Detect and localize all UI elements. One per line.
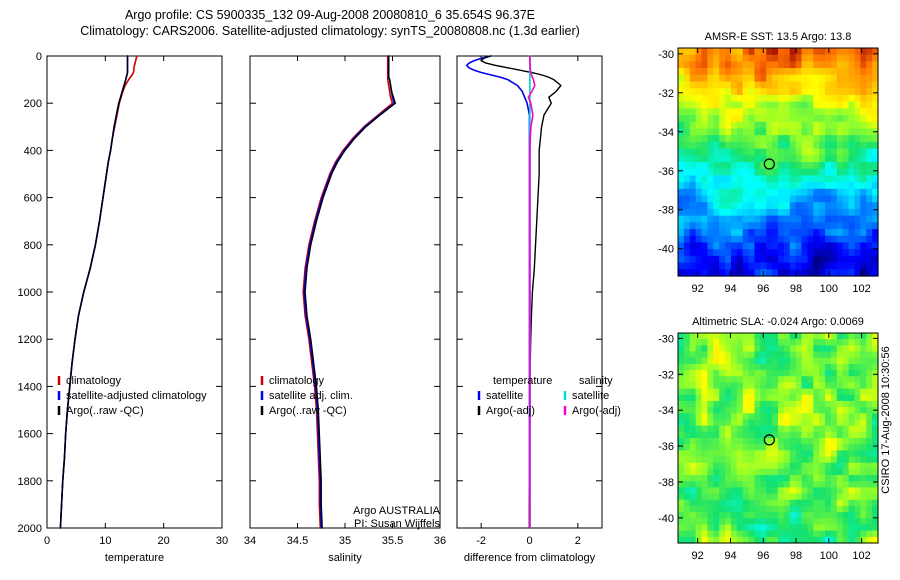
heatmap-cell [754, 142, 760, 149]
y-tick-label: 800 [24, 240, 42, 252]
heatmap-cell [737, 155, 743, 162]
heatmap-cell [754, 135, 760, 142]
heatmap-cell [702, 382, 708, 389]
heatmap-cell [784, 531, 790, 538]
heatmap-cell [743, 249, 749, 256]
heatmap-cell [807, 389, 813, 396]
heatmap-cell [778, 48, 784, 55]
heatmap-cell [719, 389, 725, 396]
heatmap-cell [737, 236, 743, 243]
heatmap-cell [860, 469, 866, 476]
panel-difference-profile: -202difference from climatologytemperatu… [457, 56, 621, 564]
heatmap-cell [866, 263, 872, 270]
heatmap-cell [690, 395, 696, 402]
heatmap-cell [725, 128, 731, 135]
heatmap-cell [754, 413, 760, 420]
heatmap-cell [849, 189, 855, 196]
heatmap-cell [778, 55, 784, 62]
heatmap-cell [725, 115, 731, 122]
heatmap-cell [766, 128, 772, 135]
heatmap-cell [690, 518, 696, 525]
heatmap-cell [707, 475, 713, 482]
heatmap-cell [837, 469, 843, 476]
heatmap-cell [784, 413, 790, 420]
heatmap-cell [825, 68, 831, 75]
heatmap-cell [778, 481, 784, 488]
heatmap-cell [813, 162, 819, 169]
heatmap-cell [784, 216, 790, 223]
heatmap-cell [843, 236, 849, 243]
heatmap-cell [849, 524, 855, 531]
heatmap-cell [778, 202, 784, 209]
heatmap-cell [843, 419, 849, 426]
heatmap-cell [749, 457, 755, 464]
heatmap-cell [760, 506, 766, 513]
heatmap-cell [707, 209, 713, 216]
heatmap-cell [778, 242, 784, 249]
heatmap-cell [737, 432, 743, 439]
heatmap-cell [725, 162, 731, 169]
heatmap-cell [813, 115, 819, 122]
heatmap-cell [819, 364, 825, 371]
heatmap-cell [678, 364, 684, 371]
heatmap-cell [819, 469, 825, 476]
heatmap-cell [784, 242, 790, 249]
heatmap-cell [702, 339, 708, 346]
heatmap-cell [866, 115, 872, 122]
heatmap-cell [731, 370, 737, 377]
heatmap-cell [796, 500, 802, 507]
heatmap-cell [678, 382, 684, 389]
heatmap-cell [807, 263, 813, 270]
heatmap-cell [690, 401, 696, 408]
heatmap-cell [825, 444, 831, 451]
series-line [60, 56, 127, 528]
heatmap-cell [702, 524, 708, 531]
heatmap-cell [690, 122, 696, 129]
heatmap-cell [737, 209, 743, 216]
heatmap-cell [749, 432, 755, 439]
heatmap-cell [766, 236, 772, 243]
heatmap-cell [678, 345, 684, 352]
heatmap-cell [819, 500, 825, 507]
heatmap-cell [749, 162, 755, 169]
heatmap-cell [737, 189, 743, 196]
heatmap-cell [825, 182, 831, 189]
heatmap-cell [749, 182, 755, 189]
heatmap-cell [760, 524, 766, 531]
heatmap-cell [860, 189, 866, 196]
heatmap-cell [772, 142, 778, 149]
heatmap-cell [696, 358, 702, 365]
heatmap-cell [731, 175, 737, 182]
heatmap-cell [684, 370, 690, 377]
heatmap-cell [843, 182, 849, 189]
heatmap-cell [731, 95, 737, 102]
heatmap-cell [837, 229, 843, 236]
heatmap-cell [825, 142, 831, 149]
heatmap-cell [690, 487, 696, 494]
heatmap-cell [743, 122, 749, 129]
heatmap-cell [731, 229, 737, 236]
heatmap-cell [725, 256, 731, 263]
heatmap-cell [807, 376, 813, 383]
heatmap-cell [749, 401, 755, 408]
heatmap-cell [813, 48, 819, 55]
heatmap-cell [754, 407, 760, 414]
heatmap-cell [702, 88, 708, 95]
heatmap-cell [713, 370, 719, 377]
heatmap-cell [719, 242, 725, 249]
heatmap-cell [772, 135, 778, 142]
heatmap-cell [796, 413, 802, 420]
heatmap-cell [843, 162, 849, 169]
heatmap-cell [790, 68, 796, 75]
heatmap-cell [825, 189, 831, 196]
heatmap-cell [843, 135, 849, 142]
heatmap-cell [684, 115, 690, 122]
heatmap-cell [743, 333, 749, 340]
heatmap-cell [813, 469, 819, 476]
heatmap-cell [760, 182, 766, 189]
heatmap-cell [837, 432, 843, 439]
heatmap-cell [778, 469, 784, 476]
heatmap-cell [719, 216, 725, 223]
heatmap-cell [819, 128, 825, 135]
heatmap-cell [825, 48, 831, 55]
heatmap-cell [819, 395, 825, 402]
y-tick-label: -40 [658, 244, 674, 256]
heatmap-cell [837, 389, 843, 396]
heatmap-cell [690, 55, 696, 62]
heatmap-cell [731, 333, 737, 340]
heatmap-cell [737, 444, 743, 451]
heatmap-cell [696, 209, 702, 216]
heatmap-cell [719, 512, 725, 519]
heatmap-cell [743, 352, 749, 359]
heatmap-cell [766, 202, 772, 209]
heatmap-cell [713, 122, 719, 129]
legend-label: Argo(-adj) [572, 405, 621, 417]
heatmap-cell [766, 135, 772, 142]
heatmap-cell [819, 229, 825, 236]
heatmap-cell [831, 438, 837, 445]
heatmap-cell [707, 162, 713, 169]
heatmap-cell [831, 216, 837, 223]
heatmap-cell [749, 389, 755, 396]
heatmap-cell [854, 236, 860, 243]
heatmap-cell [760, 115, 766, 122]
heatmap-cell [690, 512, 696, 519]
heatmap-cell [696, 155, 702, 162]
heatmap-cell [837, 438, 843, 445]
heatmap-cell [860, 108, 866, 115]
heatmap-cell [707, 438, 713, 445]
heatmap-cell [719, 444, 725, 451]
heatmap-cell [796, 108, 802, 115]
heatmap-cell [749, 189, 755, 196]
heatmap-cell [837, 345, 843, 352]
heatmap-cell [854, 401, 860, 408]
heatmap-cell [772, 457, 778, 464]
heatmap-cell [713, 382, 719, 389]
heatmap-cell [772, 196, 778, 203]
heatmap-cell [684, 512, 690, 519]
heatmap-cell [684, 395, 690, 402]
heatmap-cell [731, 413, 737, 420]
heatmap-cell [690, 481, 696, 488]
heatmap-cell [860, 229, 866, 236]
heatmap-cell [737, 82, 743, 89]
heatmap-cell [790, 438, 796, 445]
heatmap-cell [796, 407, 802, 414]
heatmap-cell [707, 142, 713, 149]
heatmap-cell [754, 345, 760, 352]
heatmap-cell [725, 376, 731, 383]
heatmap-cell [684, 352, 690, 359]
heatmap-cell [849, 162, 855, 169]
heatmap-cell [866, 457, 872, 464]
heatmap-cell [825, 169, 831, 176]
heatmap-cell [849, 481, 855, 488]
heatmap-cell [743, 426, 749, 433]
heatmap-cell [772, 95, 778, 102]
heatmap-cell [837, 339, 843, 346]
heatmap-cell [684, 358, 690, 365]
heatmap-cell [737, 128, 743, 135]
heatmap-cell [837, 88, 843, 95]
heatmap-cell [790, 370, 796, 377]
heatmap-cell [702, 202, 708, 209]
heatmap-cell [772, 389, 778, 396]
heatmap-cell [854, 149, 860, 156]
heatmap-cell [678, 175, 684, 182]
heatmap-cell [843, 229, 849, 236]
heatmap-cell [843, 216, 849, 223]
heatmap-cell [837, 61, 843, 68]
heatmap-cell [866, 401, 872, 408]
heatmap-cell [719, 236, 725, 243]
heatmap-cell [743, 236, 749, 243]
heatmap-cell [696, 122, 702, 129]
heatmap-cell [843, 382, 849, 389]
heatmap-cell [849, 518, 855, 525]
heatmap-cell [854, 339, 860, 346]
heatmap-cell [743, 88, 749, 95]
heatmap-cell [690, 450, 696, 457]
heatmap-cell [860, 444, 866, 451]
heatmap-cell [802, 487, 808, 494]
heatmap-cell [813, 438, 819, 445]
heatmap-cell [849, 263, 855, 270]
heatmap-cell [696, 339, 702, 346]
heatmap-cell [743, 169, 749, 176]
heatmap-cell [849, 82, 855, 89]
heatmap-cell [743, 469, 749, 476]
heatmap-cell [819, 487, 825, 494]
heatmap-cell [713, 512, 719, 519]
heatmap-cell [837, 352, 843, 359]
credit-line-2: PI: Susan Wijffels [354, 518, 440, 530]
heatmap-cell [731, 162, 737, 169]
heatmap-cell [678, 370, 684, 377]
heatmap-cell [725, 382, 731, 389]
heatmap-cell [807, 216, 813, 223]
heatmap-cell [843, 149, 849, 156]
heatmap-cell [796, 95, 802, 102]
heatmap-cell [678, 506, 684, 513]
heatmap-cell [731, 155, 737, 162]
heatmap-cell [702, 370, 708, 377]
heatmap-cell [843, 82, 849, 89]
heatmap-cell [684, 108, 690, 115]
heatmap-cell [796, 401, 802, 408]
heatmap-cell [684, 494, 690, 501]
heatmap-cell [837, 512, 843, 519]
heatmap-cell [831, 242, 837, 249]
heatmap-cell [707, 155, 713, 162]
heatmap-cell [690, 162, 696, 169]
heatmap-cell [754, 169, 760, 176]
heatmap-cell [696, 457, 702, 464]
heatmap-cell [802, 196, 808, 203]
heatmap-cell [749, 333, 755, 340]
heatmap-cell [772, 175, 778, 182]
heatmap-cell [819, 182, 825, 189]
heatmap-cell [796, 115, 802, 122]
heatmap-cell [690, 419, 696, 426]
heatmap-cell [837, 196, 843, 203]
heatmap-cell [854, 216, 860, 223]
heatmap-cell [719, 249, 725, 256]
heatmap-cell [866, 352, 872, 359]
heatmap-cell [690, 531, 696, 538]
heatmap-cell [754, 438, 760, 445]
heatmap-cell [837, 115, 843, 122]
heatmap-cell [743, 142, 749, 149]
heatmap-cell [825, 339, 831, 346]
heatmap-cell [843, 531, 849, 538]
heatmap-cell [854, 389, 860, 396]
series-line [467, 56, 530, 528]
heatmap-cell [790, 263, 796, 270]
heatmap-cell [760, 256, 766, 263]
heatmap-cell [778, 450, 784, 457]
heatmap-cell [778, 487, 784, 494]
heatmap-cell [702, 61, 708, 68]
heatmap-cell [807, 128, 813, 135]
heatmap-cell [678, 115, 684, 122]
heatmap-cell [760, 444, 766, 451]
heatmap-cell [684, 142, 690, 149]
y-tick-label: -32 [658, 369, 674, 381]
heatmap-cell [831, 457, 837, 464]
heatmap-cell [772, 149, 778, 156]
heatmap-cell [684, 500, 690, 507]
heatmap-cell [837, 506, 843, 513]
heatmap-cell [696, 432, 702, 439]
heatmap-cell [825, 229, 831, 236]
heatmap-cell [731, 457, 737, 464]
heatmap-cell [825, 128, 831, 135]
heatmap-cell [760, 149, 766, 156]
heatmap-cell [866, 175, 872, 182]
heatmap-cell [731, 407, 737, 414]
heatmap-cell [866, 487, 872, 494]
heatmap-cell [725, 518, 731, 525]
heatmap-cell [713, 444, 719, 451]
heatmap-cell [725, 413, 731, 420]
heatmap-cell [778, 518, 784, 525]
heatmap-cell [778, 128, 784, 135]
heatmap-cell [754, 55, 760, 62]
heatmap-cell [790, 175, 796, 182]
heatmap-cell [843, 115, 849, 122]
heatmap-cell [802, 142, 808, 149]
heatmap-cell [813, 68, 819, 75]
heatmap-cell [831, 506, 837, 513]
heatmap-cell [743, 345, 749, 352]
heatmap-cell [743, 376, 749, 383]
heatmap-cell [702, 401, 708, 408]
heatmap-cell [819, 512, 825, 519]
heatmap-cell [713, 82, 719, 89]
heatmap-cell [754, 236, 760, 243]
heatmap-cell [854, 438, 860, 445]
heatmap-cell [796, 487, 802, 494]
heatmap-cell [790, 426, 796, 433]
heatmap-cell [854, 413, 860, 420]
heatmap-cell [790, 506, 796, 513]
heatmap-cell [743, 202, 749, 209]
heatmap-cell [760, 432, 766, 439]
heatmap-cell [854, 475, 860, 482]
heatmap-cell [713, 242, 719, 249]
heatmap-cell [743, 518, 749, 525]
heatmap-cell [754, 512, 760, 519]
heatmap-cell [860, 475, 866, 482]
heatmap-cell [790, 202, 796, 209]
heatmap-cell [713, 352, 719, 359]
heatmap-cell [802, 432, 808, 439]
heatmap-cell [796, 506, 802, 513]
heatmap-cell [678, 182, 684, 189]
x-tick-label: 94 [724, 283, 736, 295]
heatmap-cell [866, 256, 872, 263]
heatmap-cell [843, 48, 849, 55]
heatmap-cell [737, 229, 743, 236]
heatmap-cell [825, 216, 831, 223]
heatmap-cell [713, 518, 719, 525]
heatmap-cell [796, 494, 802, 501]
heatmap-cell [719, 175, 725, 182]
heatmap-cell [854, 463, 860, 470]
heatmap-cell [684, 407, 690, 414]
heatmap-cell [790, 419, 796, 426]
heatmap-cell [802, 463, 808, 470]
heatmap-cell [831, 407, 837, 414]
heatmap-cell [760, 450, 766, 457]
heatmap-cell [749, 512, 755, 519]
heatmap-cell [731, 376, 737, 383]
heatmap-cell [807, 407, 813, 414]
heatmap-cell [696, 61, 702, 68]
heatmap-cell [819, 524, 825, 531]
heatmap-cell [843, 487, 849, 494]
heatmap-cell [860, 236, 866, 243]
heatmap-cell [825, 432, 831, 439]
heatmap-cell [678, 249, 684, 256]
